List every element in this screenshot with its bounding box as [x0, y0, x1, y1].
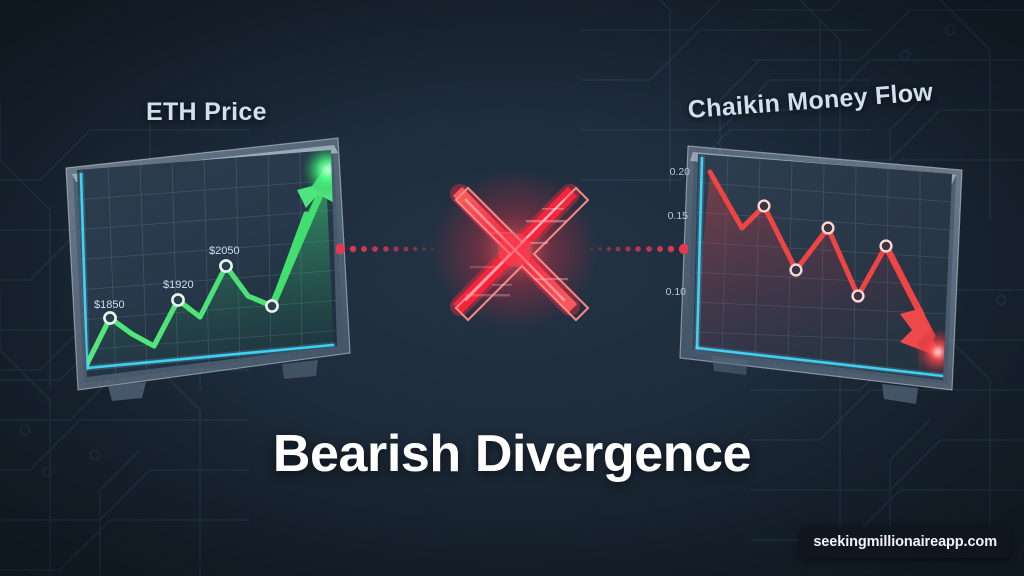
eth-price-title: ETH Price [146, 98, 267, 127]
arrow-tip-glow [302, 144, 354, 196]
cmf-tick-2: 0.10 [666, 286, 687, 298]
page-title: Bearish Divergence [0, 424, 1024, 484]
price-point-1850 [104, 312, 115, 323]
left-connector [336, 236, 440, 262]
eth-price-monitor[interactable]: $1850 $1920 $2050 [50, 118, 370, 418]
price-point-1920 [172, 294, 183, 305]
cmf-point-5 [881, 241, 892, 252]
cmf-tick-1: 0.15 [668, 210, 689, 222]
chaikin-money-flow-monitor[interactable]: 0.20 0.15 0.10 [660, 118, 980, 418]
price-point-dip [266, 300, 277, 311]
cross-center-hotspot [498, 233, 532, 267]
price-point-2050 [220, 260, 231, 271]
cmf-tick-0: 0.20 [670, 166, 691, 178]
eth-price-chart[interactable]: $1850 $1920 $2050 [50, 118, 370, 418]
divergence-cross-marker [430, 168, 600, 332]
price-label-2: $1920 [163, 279, 194, 291]
price-label-3: $2050 [209, 245, 240, 257]
chaikin-money-flow-chart[interactable]: 0.20 0.15 0.10 [660, 118, 980, 418]
watermark-badge: seekingmillionaireapp.com [800, 527, 1010, 558]
cmf-point-1 [759, 201, 770, 212]
price-label-1: $1850 [94, 299, 125, 311]
cmf-point-3 [823, 223, 834, 234]
cmf-point-2 [791, 265, 802, 276]
cmf-point-4 [853, 291, 864, 302]
